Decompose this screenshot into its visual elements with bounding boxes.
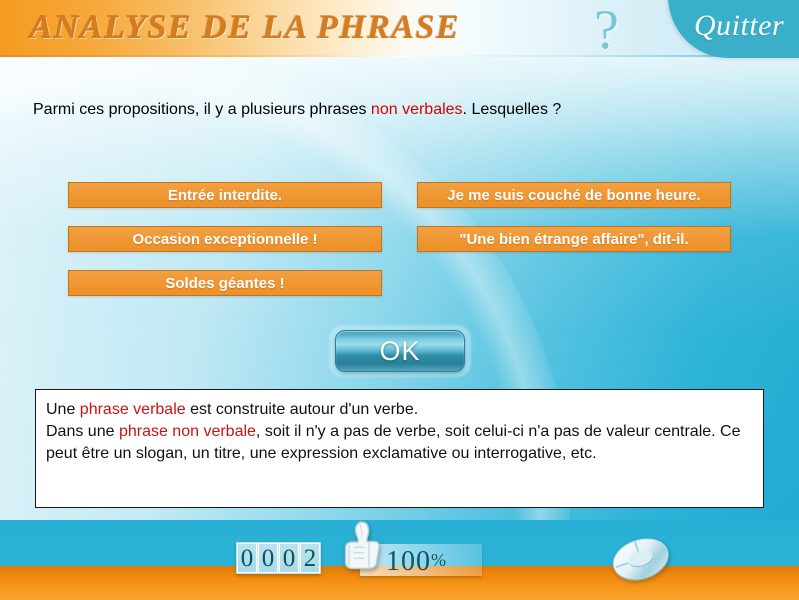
score-display: 100% [386,544,447,578]
explanation-l2-before: Dans une [46,423,119,440]
score-value: 100 [386,546,431,577]
answer-option-5[interactable]: "Une bien étrange affaire", dit-il. [417,226,731,252]
explanation-l2-highlight: phrase non verbale [119,423,256,440]
score-unit: % [431,550,447,570]
counter-digit: 2 [300,543,320,573]
header-divider [0,55,799,57]
question-text-before: Parmi ces propositions, il y a plusieurs… [33,101,371,118]
question-text-highlight: non verbales [371,101,463,118]
explanation-l1-after: est construite autour d'un verbe. [186,401,419,418]
question-text-after: . Lesquelles ? [463,101,562,118]
explanation-l1-before: Une [46,401,80,418]
question-mark-icon[interactable]: ? [594,2,619,58]
explanation-l1-highlight: phrase verbale [80,401,186,418]
counter-digit: 0 [237,543,257,573]
answer-option-1[interactable]: Entrée interdite. [68,182,382,208]
ok-button-label[interactable]: OK [335,330,465,372]
ok-button[interactable]: OK [329,325,471,377]
explanation-line-1: Une phrase verbale est construite autour… [46,399,753,421]
application-window: ANALYSE DE LA PHRASE ? Quitter Parmi ces… [0,0,799,600]
answer-option-3[interactable]: Soldes géantes ! [68,270,382,296]
answer-option-2[interactable]: Occasion exceptionnelle ! [68,226,382,252]
counter-digit: 0 [258,543,278,573]
page-title: ANALYSE DE LA PHRASE [30,9,460,47]
question-prompt: Parmi ces propositions, il y a plusieurs… [33,101,561,119]
question-counter: 0 0 0 2 [236,542,321,574]
explanation-line-2: Dans une phrase non verbale, soit il n'y… [46,421,753,465]
counter-digit: 0 [279,543,299,573]
explanation-box: Une phrase verbale est construite autour… [35,389,764,508]
background-highlight [0,56,799,236]
quit-button-label[interactable]: Quitter [694,9,784,43]
lifebuoy-icon[interactable] [606,530,676,590]
answer-option-4[interactable]: Je me suis couché de bonne heure. [417,182,731,208]
